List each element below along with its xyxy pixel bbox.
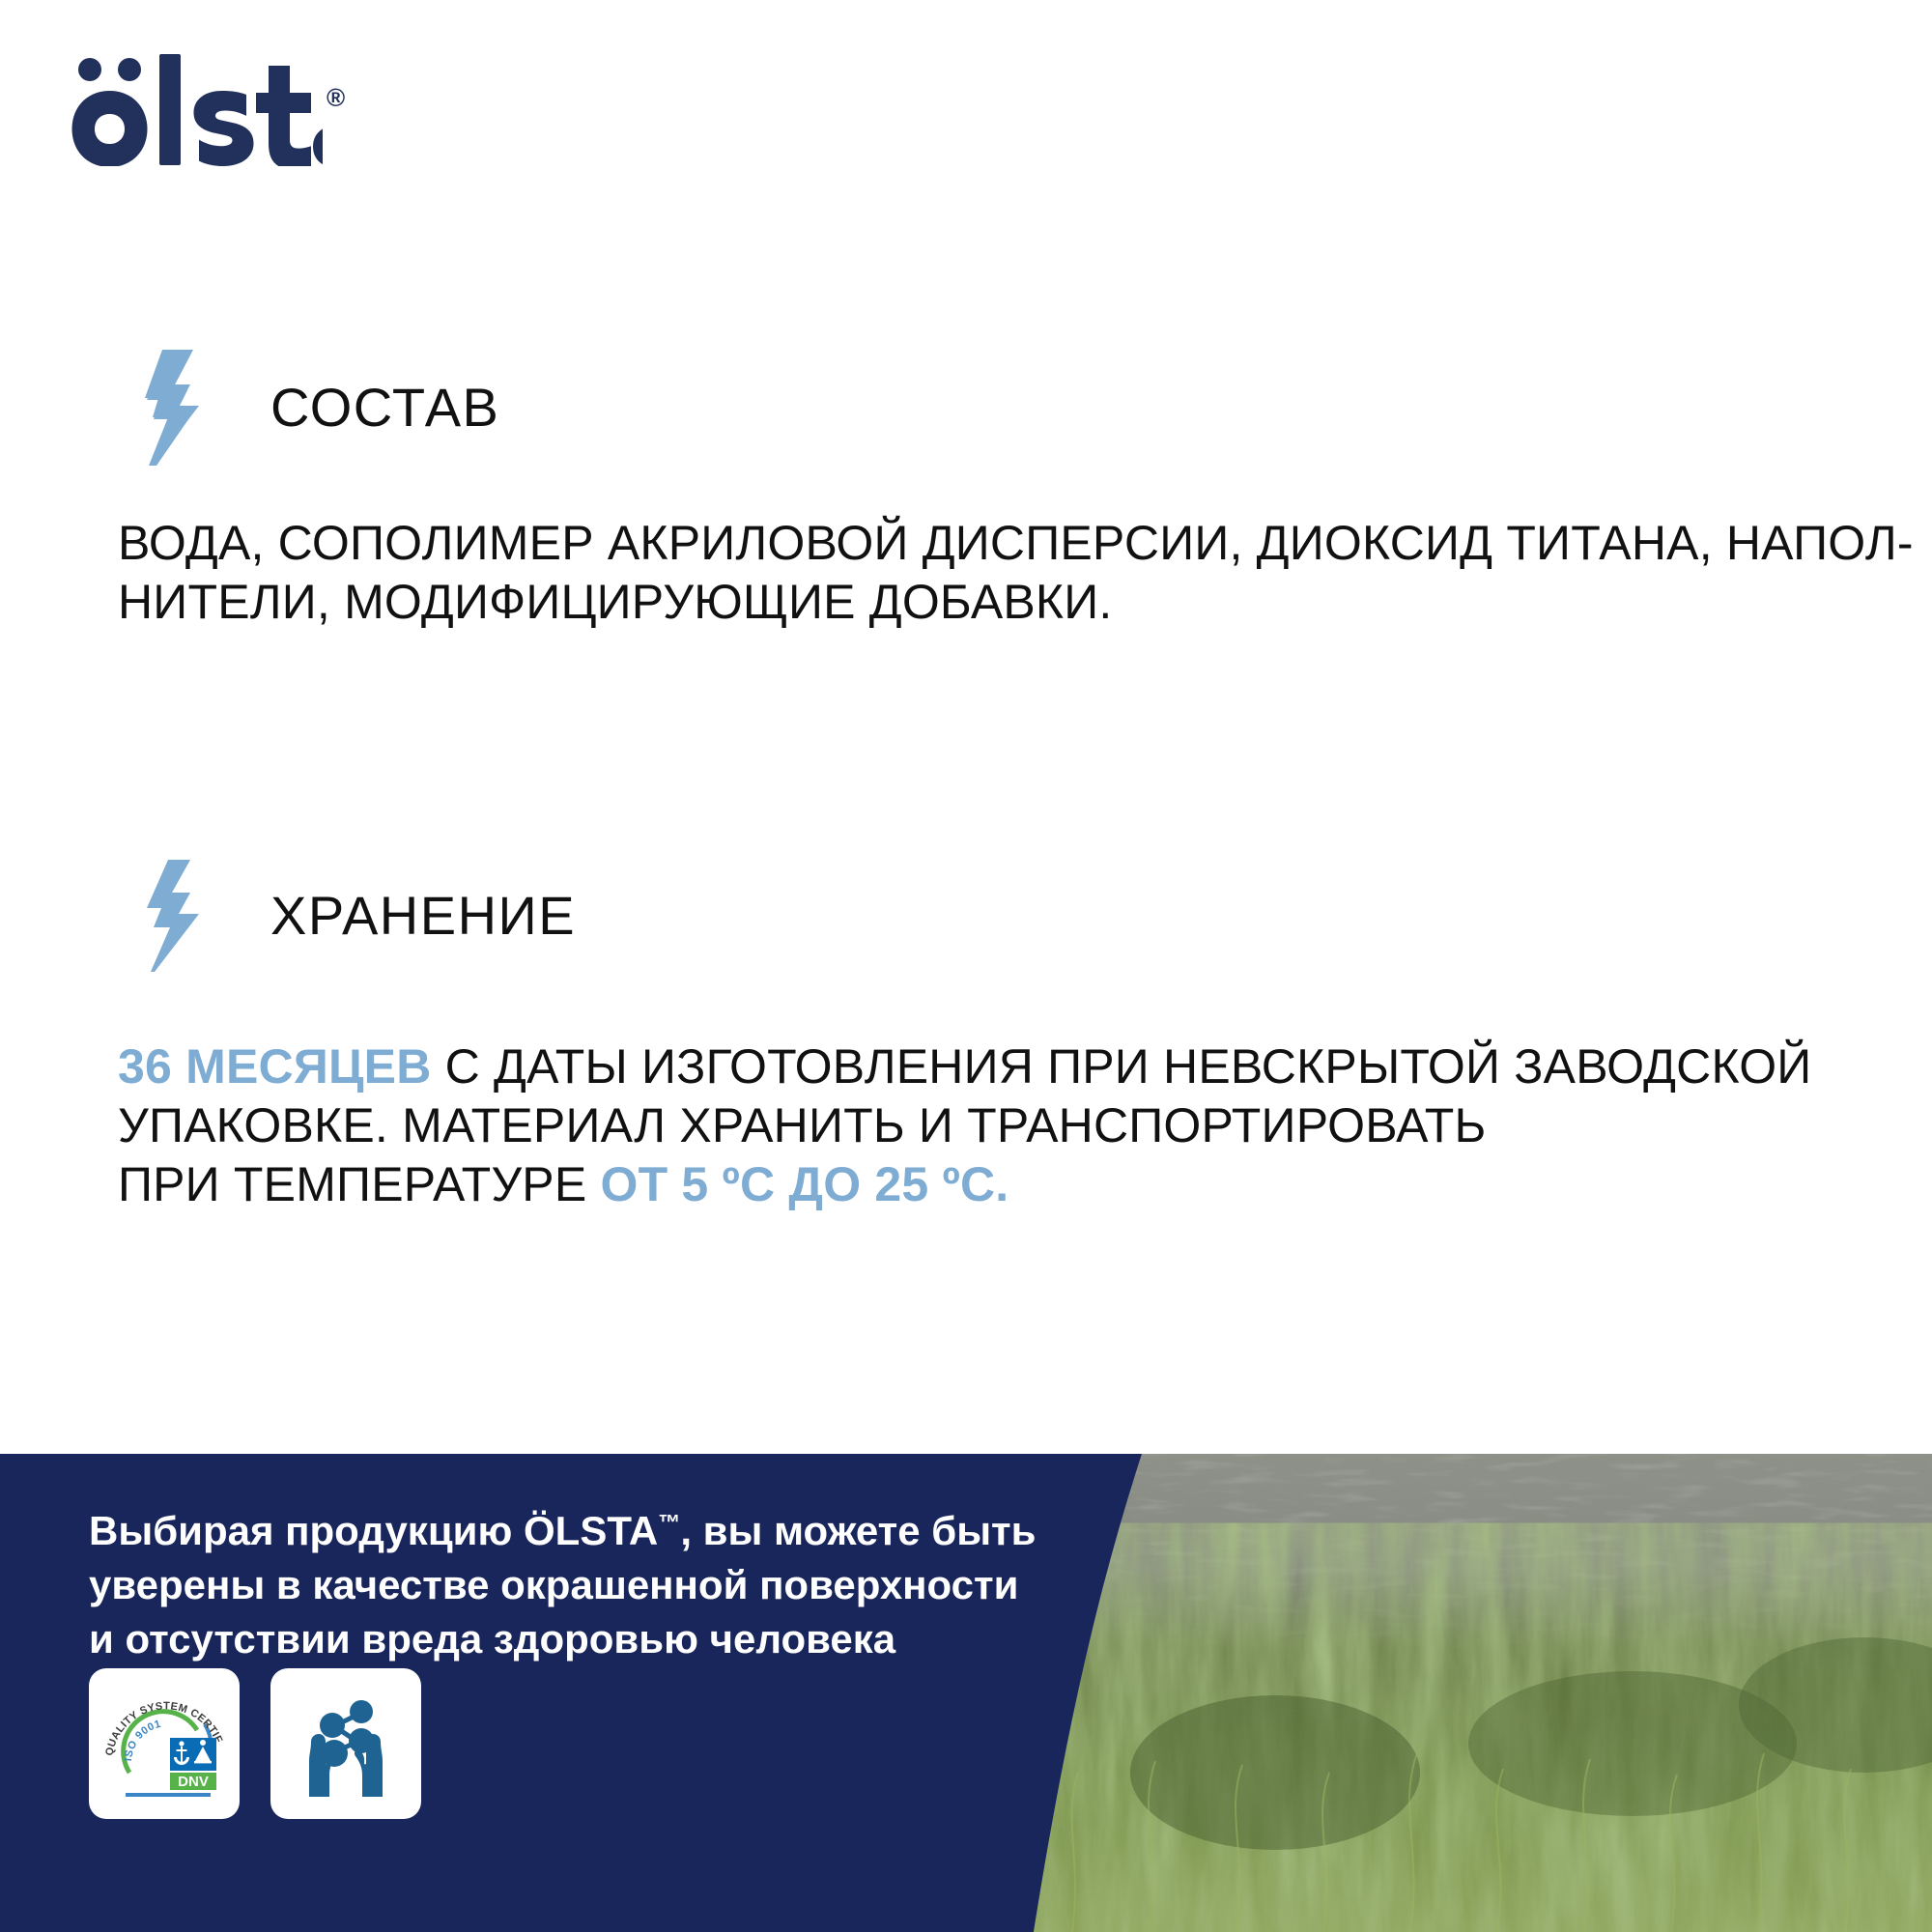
footer-photo (1034, 1454, 1932, 1932)
iso-9001-dnv-icon: QUALITY SYSTEM CERTIFICATION ISO 9001 (97, 1676, 232, 1811)
composition-line-1: ВОДА, СОПОЛИМЕР АКРИЛОВОЙ ДИСПЕРСИИ, ДИО… (118, 514, 1914, 573)
footer-copy-line-2: уверены в качестве окрашенной поверхност… (89, 1558, 1036, 1612)
section-storage-header: ХРАНЕНИЕ (145, 858, 576, 974)
footer-copy-line-1: Выбирая продукцию ÖLSTA™, вы можете быть (89, 1504, 1036, 1558)
grass-wall-photo (1034, 1454, 1932, 1932)
iso-9001-dnv-badge: QUALITY SYSTEM CERTIFICATION ISO 9001 (89, 1668, 240, 1819)
composition-line-2: НИТЕЛИ, МОДИФИЦИРУЮЩИЕ ДОБАВКИ. (118, 573, 1914, 632)
lightning-bolt-icon (145, 858, 209, 974)
certification-badges: QUALITY SYSTEM CERTIFICATION ISO 9001 (89, 1668, 421, 1819)
storage-line-2: УПАКОВКЕ. МАТЕРИАЛ ХРАНИТЬ И ТРАНСПОРТИР… (118, 1096, 1811, 1155)
section-composition-header: СОСТАВ (145, 350, 499, 466)
hands-holding-molecule-icon (288, 1686, 404, 1802)
footer-copy-line-3: и отсутствии вреда здоровью человека (89, 1612, 1036, 1666)
footer-banner: Выбирая продукцию ÖLSTA™, вы можете быть… (0, 1454, 1932, 1932)
storage-line-1-rest: С ДАТЫ ИЗГОТОВЛЕНИЯ ПРИ НЕВСКРЫТОЙ ЗАВОД… (432, 1039, 1812, 1094)
storage-temp-prefix: ПРИ ТЕМПЕРАТУРЕ (118, 1157, 601, 1211)
brand-logo: ® (70, 54, 345, 166)
registered-trademark-mark: ® (327, 83, 345, 113)
svg-text:DNV: DNV (178, 1774, 209, 1790)
olsta-wordmark-icon (70, 54, 323, 166)
section-storage-title: ХРАНЕНИЕ (270, 889, 576, 943)
footer-copy-line-1-b: , вы можете быть (680, 1508, 1036, 1553)
storage-line-3: ПРИ ТЕМПЕРАТУРЕ ОТ 5 ºС ДО 25 ºС. (118, 1155, 1811, 1214)
hands-molecule-safety-badge (270, 1668, 421, 1819)
product-info-page: ® СОСТАВ ВОДА, СОПОЛИМЕР АКРИЛОВОЙ ДИСПЕ… (0, 0, 1932, 1932)
storage-shelf-life-value: 36 МЕСЯЦЕВ (118, 1039, 432, 1094)
section-storage: ХРАНЕНИЕ 36 МЕСЯЦЕВ С ДАТЫ ИЗГОТОВЛЕНИЯ … (145, 858, 576, 974)
storage-temperature-value: ОТ 5 ºС ДО 25 ºС. (601, 1157, 1009, 1211)
storage-line-1: 36 МЕСЯЦЕВ С ДАТЫ ИЗГОТОВЛЕНИЯ ПРИ НЕВСК… (118, 1037, 1811, 1096)
lightning-bolt-icon (145, 350, 209, 466)
trademark-mark: ™ (658, 1510, 680, 1535)
footer-copy-line-1-a: Выбирая продукцию ÖLSTA (89, 1508, 658, 1553)
section-composition: СОСТАВ ВОДА, СОПОЛИМЕР АКРИЛОВОЙ ДИСПЕРС… (145, 350, 499, 466)
footer-copy: Выбирая продукцию ÖLSTA™, вы можете быть… (89, 1504, 1036, 1666)
section-storage-body: 36 МЕСЯЦЕВ С ДАТЫ ИЗГОТОВЛЕНИЯ ПРИ НЕВСК… (118, 1037, 1811, 1214)
section-composition-title: СОСТАВ (270, 381, 499, 435)
section-composition-body: ВОДА, СОПОЛИМЕР АКРИЛОВОЙ ДИСПЕРСИИ, ДИО… (118, 514, 1914, 632)
